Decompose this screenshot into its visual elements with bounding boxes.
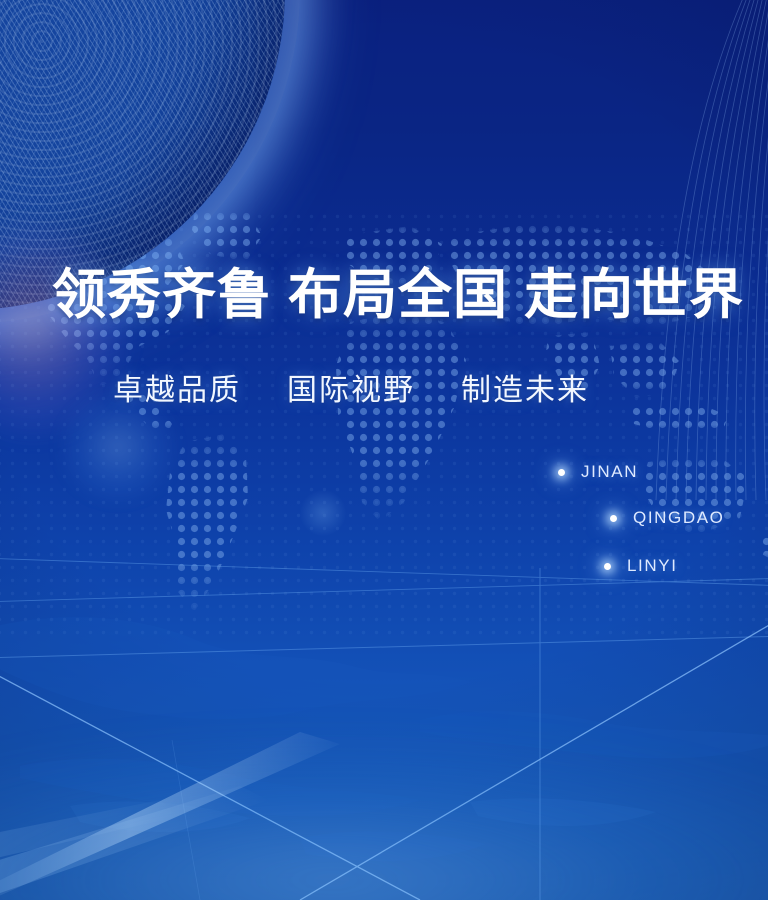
location-dot-icon (604, 563, 611, 570)
subline-part-1: 卓越品质 (113, 374, 241, 407)
hero-banner: 领秀齐鲁布局全国走向世界 卓越品质国际视野制造未来 JINAN QINGDAO … (0, 0, 768, 900)
banner-copy: 领秀齐鲁布局全国走向世界 卓越品质国际视野制造未来 JINAN QINGDAO … (0, 0, 768, 900)
subline-part-2: 国际视野 (287, 374, 415, 407)
map-marker-label: LINYI (627, 556, 678, 576)
map-marker-jinan[interactable]: JINAN (558, 462, 638, 482)
headline-part-2: 布局全国 (288, 265, 508, 325)
map-marker-qingdao[interactable]: QINGDAO (610, 508, 725, 528)
page-subtitle: 卓越品质国际视野制造未来 (113, 372, 589, 410)
headline-part-1: 领秀齐鲁 (52, 265, 272, 325)
subline-part-3: 制造未来 (461, 374, 589, 407)
location-dot-icon (558, 469, 565, 476)
map-marker-linyi[interactable]: LINYI (604, 556, 678, 576)
map-marker-label: QINGDAO (633, 508, 725, 528)
page-title: 领秀齐鲁布局全国走向世界 (52, 264, 744, 326)
location-dot-icon (610, 515, 617, 522)
map-marker-label: JINAN (581, 462, 638, 482)
headline-part-3: 走向世界 (524, 265, 744, 325)
